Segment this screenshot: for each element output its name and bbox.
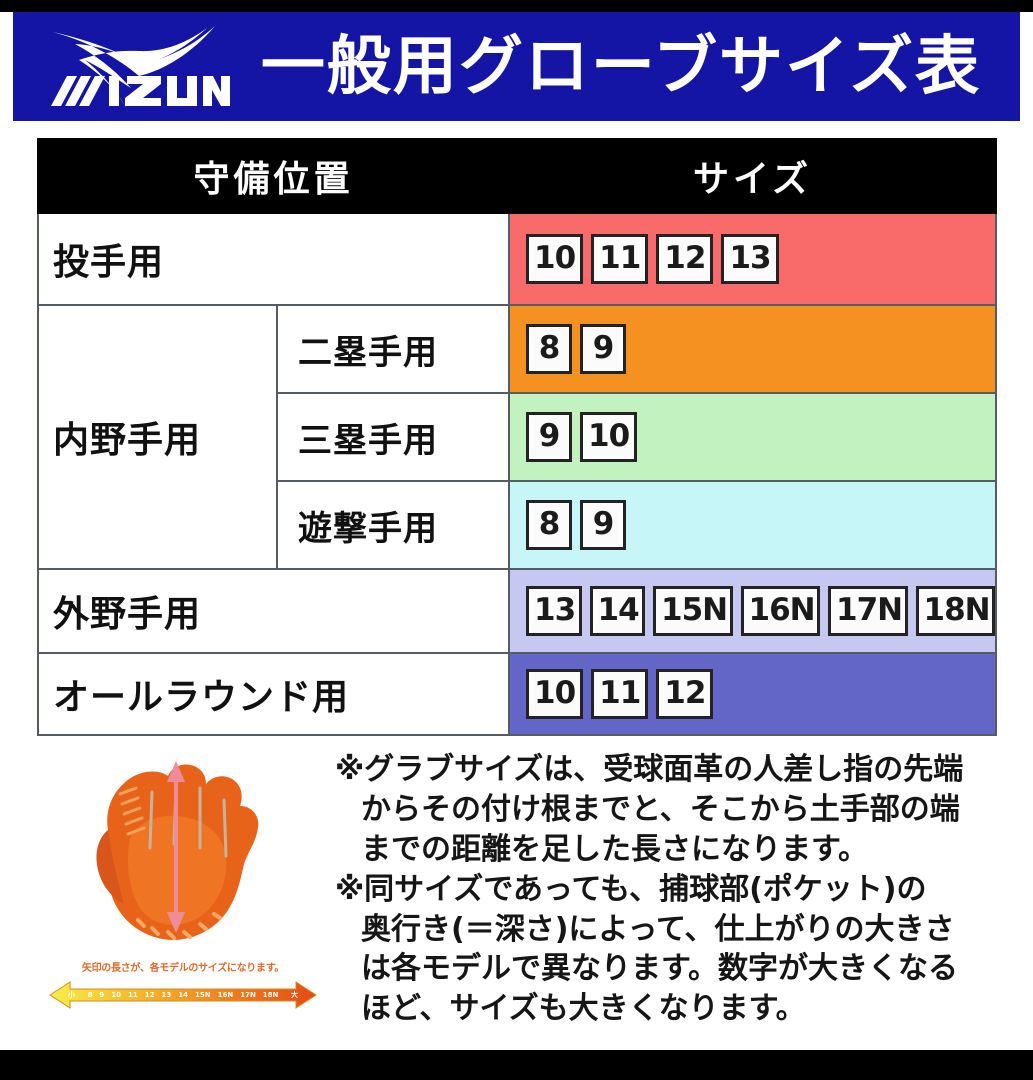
page-title: 一般用グローブサイズ表 [230, 35, 1020, 99]
bottom-letterbox-bar [0, 1050, 1033, 1080]
size-chip: 9 [580, 500, 626, 550]
size-chip: 12 [656, 234, 713, 284]
scale-label-small: 小 [68, 990, 75, 1000]
position-label-allround: オールラウンド用 [38, 653, 509, 735]
size-chip: 11 [591, 669, 648, 719]
note-line: からその付け根までと、そこから土手部の端 [335, 790, 1012, 830]
scale-label-large: 大 [291, 990, 298, 1000]
position-label-shortstop: 遊撃手用 [277, 481, 509, 569]
size-cell-second-base: 89 [509, 305, 996, 393]
size-chip-group: 89 [526, 500, 995, 550]
scale-ticks: 8 9 10 11 12 13 14 15N 16N 17N 18N [88, 991, 279, 999]
position-label-pitcher: 投手用 [38, 213, 509, 305]
size-chip: 8 [526, 500, 572, 550]
size-table-container: 守備位置 サイズ 投手用 10111213 内野手用 二塁手用 8 [37, 138, 995, 736]
size-chip: 11 [591, 234, 648, 284]
glove-illustration-block: 矢印の長さが、各モデルのサイズになります。 小 8 [37, 748, 329, 1012]
table-row: 内野手用 二塁手用 89 [38, 305, 996, 393]
column-header-size: サイズ [509, 139, 996, 213]
size-chip: 14 [590, 586, 646, 636]
note-line: までの距離を足した長さになります。 [335, 830, 1012, 870]
size-chip: 10 [526, 234, 583, 284]
size-chip: 9 [580, 324, 626, 374]
size-cell-allround: 101112 [509, 653, 996, 735]
size-chip: 12 [656, 669, 713, 719]
size-chip-group: 89 [526, 324, 995, 374]
position-label-outfielder: 外野手用 [38, 569, 509, 653]
table-header-row: 守備位置 サイズ [38, 139, 996, 213]
position-label-infielder: 内野手用 [38, 305, 277, 569]
size-chip: 17N [828, 586, 907, 636]
note-line: ※同サイズであっても、捕球部(ポケット)の [335, 870, 1012, 910]
size-chip: 13 [526, 586, 582, 636]
baseball-glove-image [68, 752, 298, 957]
size-chip-group: 10111213 [526, 234, 995, 284]
size-cell-pitcher: 10111213 [509, 213, 996, 305]
size-chip: 15N [653, 586, 732, 636]
size-chip-group: 131415N16N17N18N [526, 586, 995, 636]
note-line: ※グラブサイズは、受球面革の人差し指の先端 [335, 750, 1012, 790]
note-line: は各モデルで異なります。数字が大きくなる [335, 949, 1012, 989]
table-row: オールラウンド用 101112 [38, 653, 996, 735]
table-body: 投手用 10111213 内野手用 二塁手用 89 三塁手用 [38, 213, 996, 735]
note-line: 奥行き(＝深さ)によって、仕上がりの大きさ [335, 910, 1012, 950]
size-cell-outfielder: 131415N16N17N18N [509, 569, 996, 653]
size-cell-third-base: 910 [509, 393, 996, 481]
size-chip-group: 910 [526, 412, 995, 462]
size-scale-arrow: 小 8 9 10 11 12 13 14 15N 16N 17N 18N 大 [48, 978, 318, 1012]
position-label-third-base: 三塁手用 [277, 393, 509, 481]
size-chip-group: 101112 [526, 669, 995, 719]
header-banner: 一般用グローブサイズ表 [13, 12, 1020, 121]
size-chip: 9 [526, 412, 572, 462]
size-chip: 16N [741, 586, 820, 636]
glove-size-chart-page: 一般用グローブサイズ表 守備位置 サイズ 投手用 10111213 [0, 0, 1033, 1080]
position-label-second-base: 二塁手用 [277, 305, 509, 393]
size-chip: 18N [916, 586, 995, 636]
glove-arrow-caption: 矢印の長さが、各モデルのサイズになります。 [37, 959, 329, 974]
size-chip: 10 [580, 412, 637, 462]
note-line: ほど、サイズも大きくなります。 [335, 989, 1012, 1029]
scale-tick-labels: 小 8 9 10 11 12 13 14 15N 16N 17N 18N 大 [48, 978, 318, 1012]
footer-notes-area: 矢印の長さが、各モデルのサイズになります。 小 8 [37, 748, 1012, 1048]
table-row: 投手用 10111213 [38, 213, 996, 305]
notes-text-block: ※グラブサイズは、受球面革の人差し指の先端 からその付け根までと、そこから土手部… [329, 748, 1012, 1029]
glove-size-table: 守備位置 サイズ 投手用 10111213 内野手用 二塁手用 8 [37, 138, 997, 736]
size-chip: 13 [721, 234, 778, 284]
size-chip: 10 [526, 669, 583, 719]
size-chip: 8 [526, 324, 572, 374]
column-header-position: 守備位置 [38, 139, 509, 213]
top-letterbox-bar [0, 0, 1033, 12]
size-cell-shortstop: 89 [509, 481, 996, 569]
mizuno-logo [35, 14, 230, 119]
table-row: 外野手用 131415N16N17N18N [38, 569, 996, 653]
